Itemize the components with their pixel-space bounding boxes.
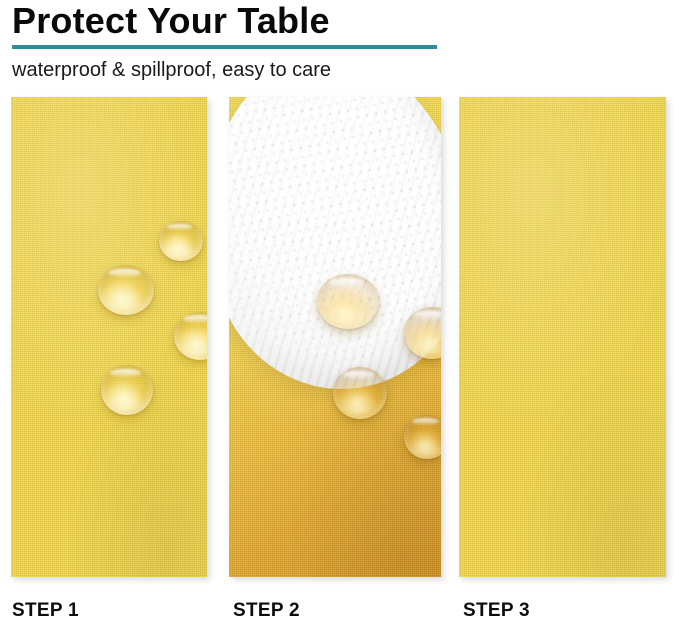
step-label-1: STEP 1 <box>12 598 79 624</box>
step-image-2 <box>229 97 441 577</box>
water-droplet <box>333 367 387 419</box>
page-title: Protect Your Table <box>12 0 330 44</box>
water-droplet <box>159 221 203 261</box>
header: Protect Your Table waterproof & spillpro… <box>0 0 679 92</box>
fabric-surface-3 <box>459 97 666 577</box>
water-droplet <box>98 265 154 315</box>
step-label-2: STEP 2 <box>233 598 300 624</box>
step-caption-row: STEP 1 STEP 2 STEP 3 <box>0 598 679 632</box>
step-image-1 <box>11 97 207 577</box>
water-droplet <box>101 365 153 415</box>
title-divider <box>12 45 437 49</box>
page-subtitle: waterproof & spillproof, easy to care <box>12 56 331 84</box>
panel-strip <box>0 97 679 577</box>
water-droplet <box>317 274 379 329</box>
step-image-3 <box>459 97 666 577</box>
step-label-3: STEP 3 <box>463 598 530 624</box>
